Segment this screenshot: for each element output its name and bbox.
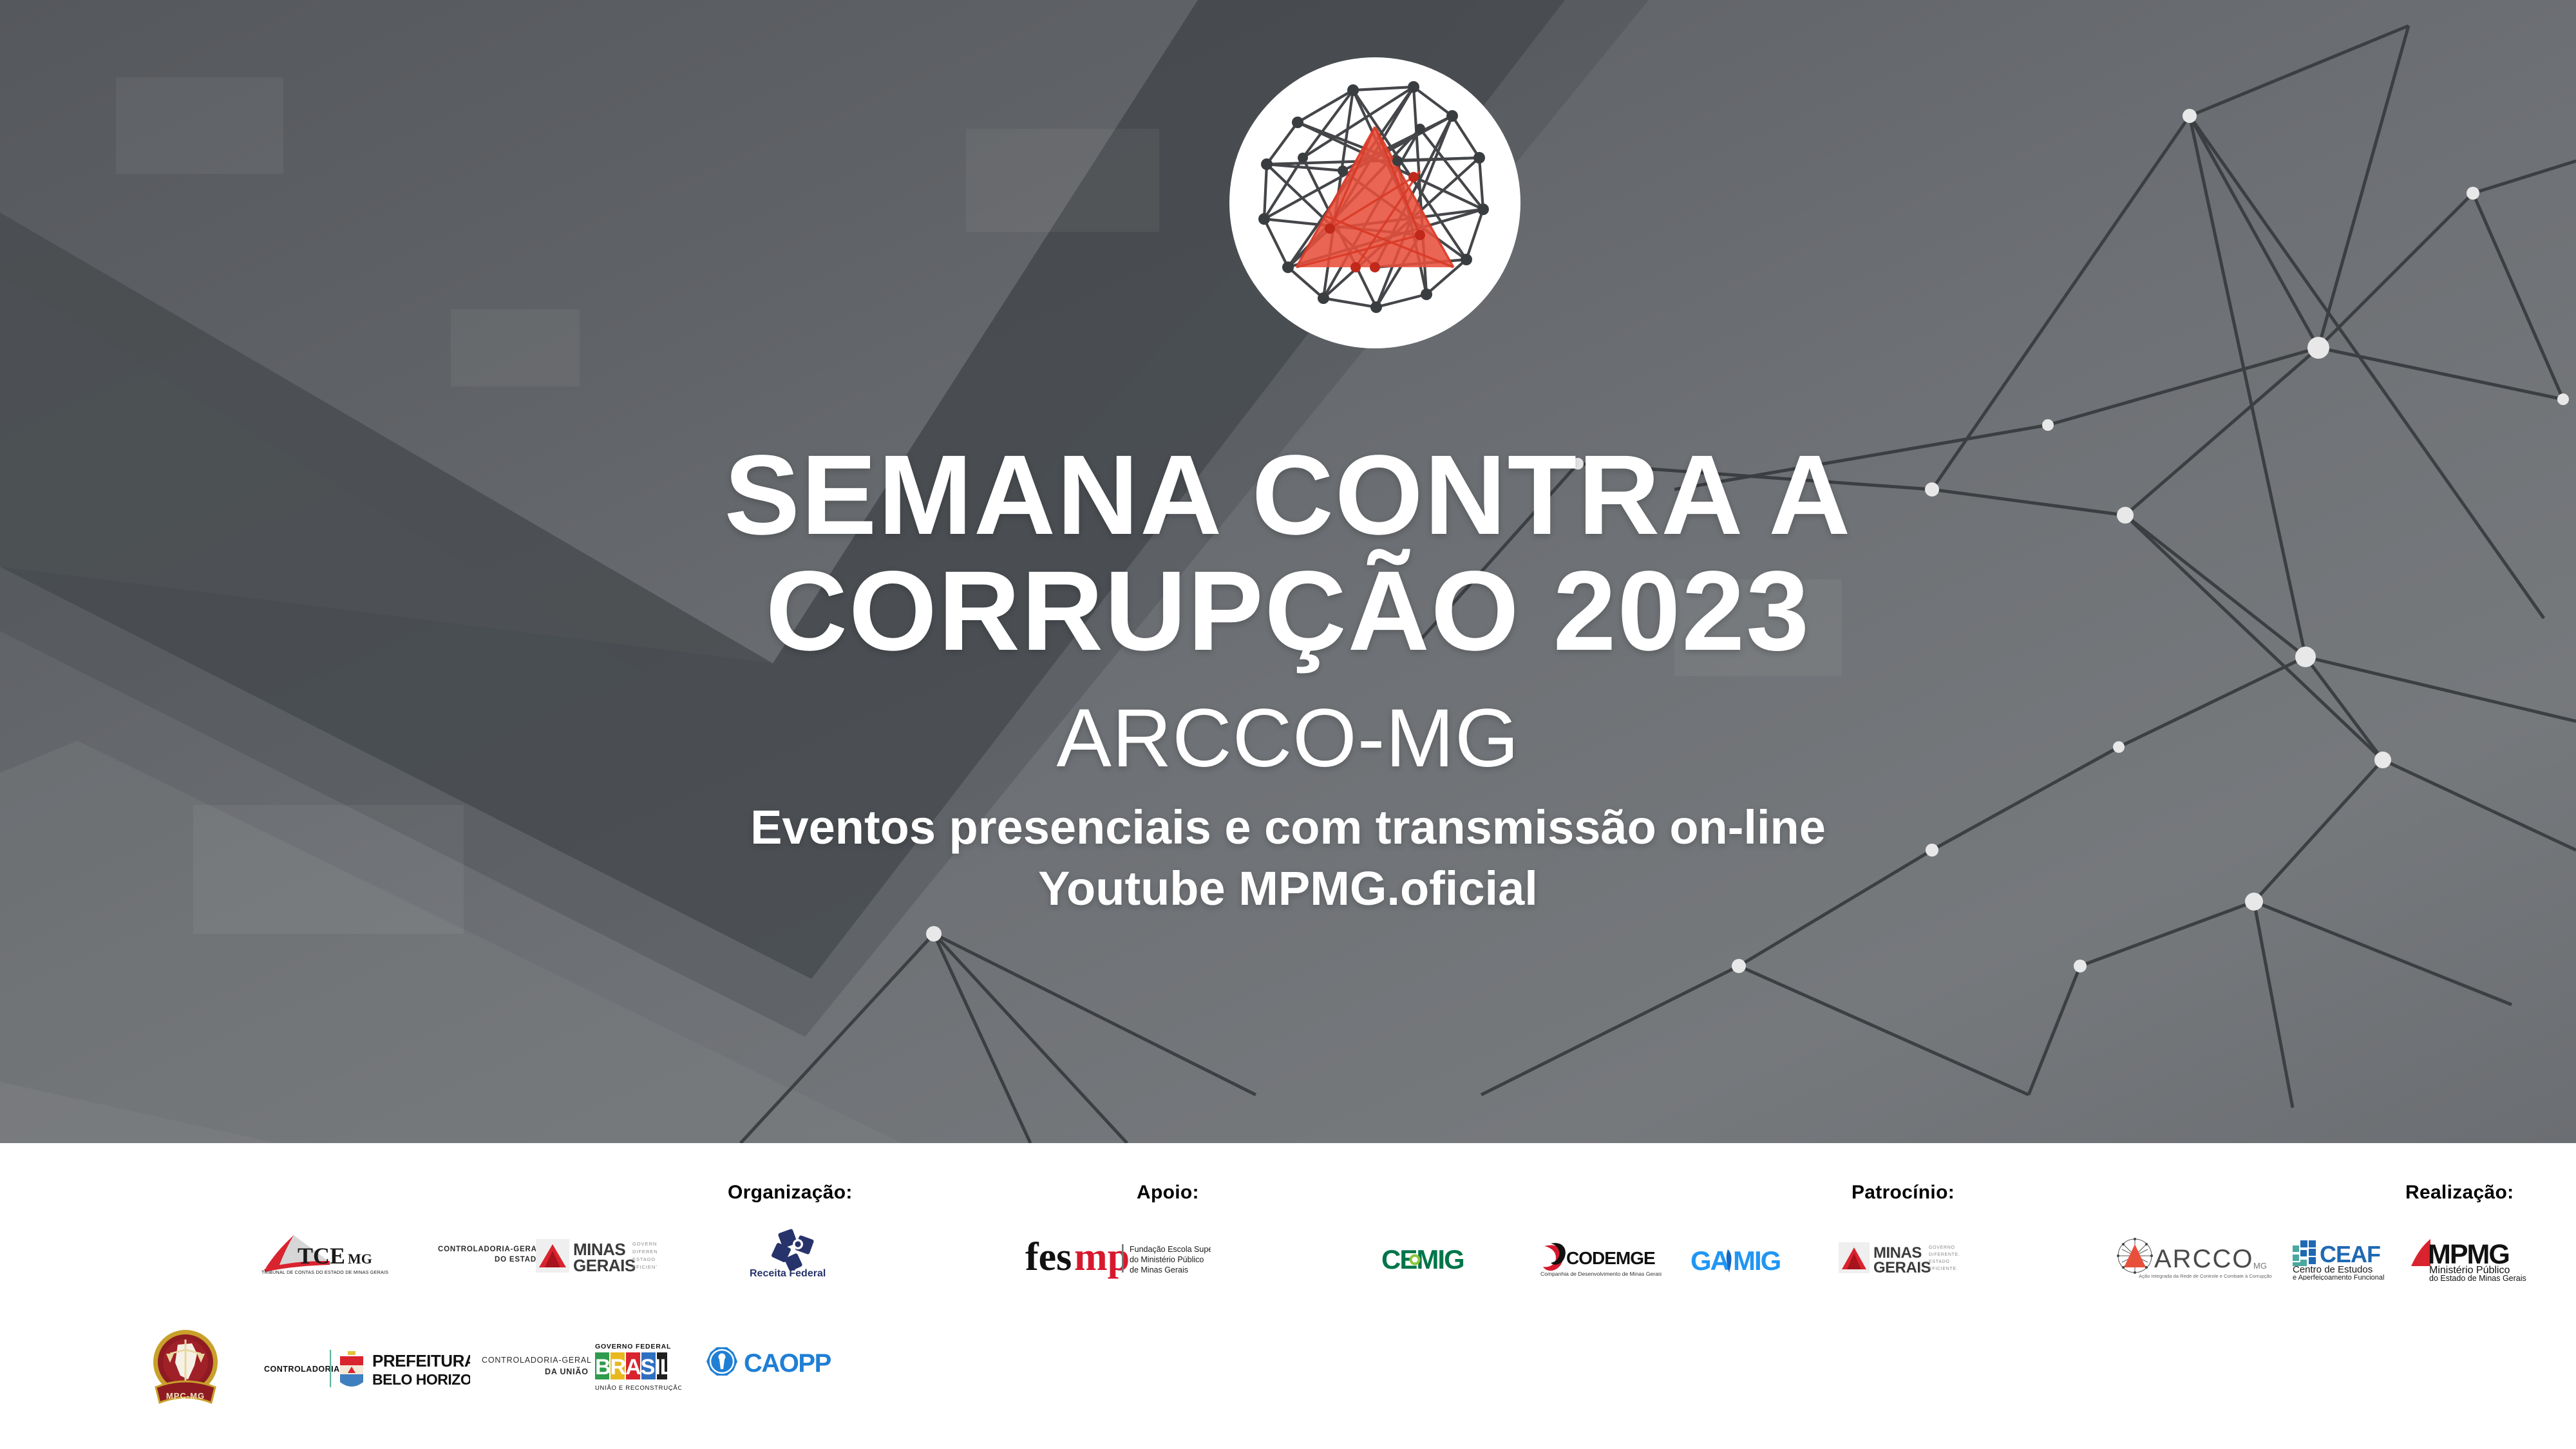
svg-text:DIFERENTE.: DIFERENTE. [632, 1249, 657, 1255]
svg-text:MPC-MG: MPC-MG [166, 1391, 205, 1401]
svg-text:e Aperfeiçoamento Funcional: e Aperfeiçoamento Funcional [2293, 1274, 2384, 1280]
svg-text:CONTROLADORIA: CONTROLADORIA [264, 1365, 340, 1374]
label-realizacao: Realização: [2405, 1182, 2514, 1204]
svg-text:GA: GA [1690, 1245, 1730, 1276]
logo-cemig: CEMIG [1381, 1244, 1494, 1275]
svg-text:DA UNIÃO: DA UNIÃO [545, 1367, 589, 1376]
prefeitura-bh-icon: CONTROLADORIA PREFEITURA BELO HORIZONTE [264, 1345, 470, 1391]
mpc-mg-icon: MPC-MG [147, 1325, 224, 1412]
svg-text:DIFERENTE.: DIFERENTE. [1929, 1253, 1960, 1257]
svg-text:MIG: MIG [1733, 1245, 1781, 1276]
title-line-1: SEMANA CONTRA A [0, 438, 2576, 554]
logo-cgu-brasil: CONTROLADORIA-GERAL DA UNIÃO GOVERNO FED… [482, 1338, 681, 1394]
logo-gasmig: GA MIG [1690, 1244, 1806, 1276]
svg-text:UNIÃO E RECONSTRUÇÃO: UNIÃO E RECONSTRUÇÃO [595, 1385, 681, 1392]
svg-text:CEMIG: CEMIG [1381, 1244, 1464, 1274]
caopp-icon: CAOPP [705, 1343, 847, 1383]
svg-text:ARCCO: ARCCO [2154, 1245, 2253, 1273]
mpmg-icon: MPMG Ministério Público do Estado de Min… [2409, 1238, 2531, 1282]
svg-text:GOVERNO: GOVERNO [632, 1241, 657, 1247]
svg-text:Fundação Escola Superior: Fundação Escola Superior [1130, 1245, 1211, 1254]
info-line-2: Youtube MPMG.oficial [0, 858, 2576, 920]
label-patrocinio: Patrocínio: [1851, 1182, 1955, 1204]
logo-cge-minas-gerais: CONTROLADORIA-GERAL DO ESTADO MINAS GERA… [438, 1235, 657, 1275]
logo-prefeitura-bh: CONTROLADORIA PREFEITURA BELO HORIZONTE [264, 1345, 470, 1391]
svg-text:CONTROLADORIA-GERAL: CONTROLADORIA-GERAL [438, 1245, 542, 1253]
svg-text:DO ESTADO: DO ESTADO [495, 1256, 543, 1264]
svg-text:GOVERNO FEDERAL: GOVERNO FEDERAL [595, 1343, 671, 1350]
svg-text:Receita Federal: Receita Federal [750, 1268, 826, 1278]
svg-text:CODEMGE: CODEMGE [1566, 1248, 1655, 1268]
label-organizacao: Organização: [728, 1182, 853, 1204]
codemge-icon: CODEMGE Companhia de Desenvolvimento de … [1539, 1240, 1662, 1280]
info-line-1: Eventos presenciais e com transmissão on… [0, 797, 2576, 858]
arcco-logo [1227, 55, 1523, 351]
logo-fesmp: fes mp Fundação Escola Superior do Minis… [1024, 1230, 1211, 1280]
svg-text:PREFEITURA: PREFEITURA [372, 1351, 470, 1370]
svg-text:MG: MG [348, 1251, 372, 1267]
cemig-icon: CEMIG [1381, 1244, 1494, 1275]
logo-mpmg: MPMG Ministério Público do Estado de Min… [2409, 1238, 2531, 1282]
svg-text:mp: mp [1074, 1235, 1130, 1279]
svg-text:do Ministério Público: do Ministério Público [1130, 1255, 1204, 1264]
arcco-network-triangle-icon [1227, 55, 1523, 351]
logo-caopp: CAOPP [705, 1343, 847, 1383]
svg-text:BELO HORIZONTE: BELO HORIZONTE [372, 1371, 470, 1388]
svg-text:CONTROLADORIA-GERAL: CONTROLADORIA-GERAL [482, 1356, 592, 1365]
tcemg-icon: TCE MG TRIBUNAL DE CONTAS DO ESTADO DE M… [258, 1231, 399, 1276]
svg-text:de Minas Gerais: de Minas Gerais [1130, 1265, 1188, 1274]
svg-text:CEAF: CEAF [2320, 1241, 2380, 1267]
svg-text:CAOPP: CAOPP [744, 1349, 831, 1378]
fesmp-icon: fes mp Fundação Escola Superior do Minis… [1024, 1230, 1211, 1280]
svg-text:ESTADO: ESTADO [632, 1256, 656, 1262]
hero-background: SEMANA CONTRA A CORRUPÇÃO 2023 ARCCO-MG … [0, 0, 2576, 1143]
svg-text:do Estado de Minas Gerais: do Estado de Minas Gerais [2429, 1274, 2526, 1282]
logo-minas-gerais-gov: MINAS GERAIS GOVERNODIFERENTE. ESTADOEFI… [1839, 1240, 1967, 1277]
svg-text:TRIBUNAL DE CONTAS DO ESTADO D: TRIBUNAL DE CONTAS DO ESTADO DE MINAS GE… [261, 1269, 388, 1275]
label-apoio: Apoio: [1137, 1182, 1199, 1204]
logo-codemge: CODEMGE Companhia de Desenvolvimento de … [1539, 1240, 1662, 1280]
svg-text:EFICIENTE.: EFICIENTE. [632, 1264, 657, 1270]
arcco-mg-icon: ARCCO MG Ação Integrada da Rede de Contr… [2116, 1236, 2277, 1282]
logo-tcemg: TCE MG TRIBUNAL DE CONTAS DO ESTADO DE M… [258, 1231, 399, 1276]
svg-text:ESTADO: ESTADO [1929, 1260, 1949, 1264]
svg-text:GOVERNO: GOVERNO [1929, 1245, 1955, 1250]
title-block: SEMANA CONTRA A CORRUPÇÃO 2023 ARCCO-MG … [0, 438, 2576, 919]
svg-text:GERAIS: GERAIS [573, 1256, 636, 1275]
logo-receita-federal: Receita Federal [744, 1227, 840, 1278]
logo-ceaf: CEAF Centro de Estudos e Aperfeiçoamento… [2291, 1236, 2401, 1280]
logo-mpc-mg: MPC-MG [147, 1325, 224, 1412]
cge-minas-gerais-icon: CONTROLADORIA-GERAL DO ESTADO MINAS GERA… [438, 1235, 657, 1275]
gasmig-icon: GA MIG [1690, 1244, 1806, 1276]
ceaf-icon: CEAF Centro de Estudos e Aperfeiçoamento… [2291, 1236, 2401, 1280]
svg-text:TCE: TCE [298, 1243, 345, 1269]
logo-arcco-mg: ARCCO MG Ação Integrada da Rede de Contr… [2116, 1236, 2277, 1282]
svg-text:fes: fes [1025, 1235, 1072, 1279]
subtitle-arcco: ARCCO-MG [0, 691, 2576, 786]
svg-text:GERAIS: GERAIS [1873, 1259, 1931, 1276]
minas-gerais-gov-icon: MINAS GERAIS GOVERNODIFERENTE. ESTADOEFI… [1839, 1240, 1967, 1277]
svg-text:Companhia de Desenvolvimento d: Companhia de Desenvolvimento de Minas Ge… [1540, 1271, 1662, 1277]
svg-text:Ação Integrada da Rede de Cont: Ação Integrada da Rede de Controle e Com… [2139, 1273, 2272, 1279]
poster-canvas: SEMANA CONTRA A CORRUPÇÃO 2023 ARCCO-MG … [0, 0, 2576, 1449]
svg-text:MG: MG [2253, 1261, 2267, 1271]
title-line-2: CORRUPÇÃO 2023 [0, 554, 2576, 670]
sponsor-footer [0, 1143, 2576, 1449]
cgu-brasil-icon: CONTROLADORIA-GERAL DA UNIÃO GOVERNO FED… [482, 1338, 681, 1394]
receita-federal-icon: Receita Federal [744, 1227, 840, 1278]
svg-text:EFICIENTE.: EFICIENTE. [1929, 1267, 1958, 1271]
svg-text:BRASIL: BRASIL [595, 1355, 673, 1379]
